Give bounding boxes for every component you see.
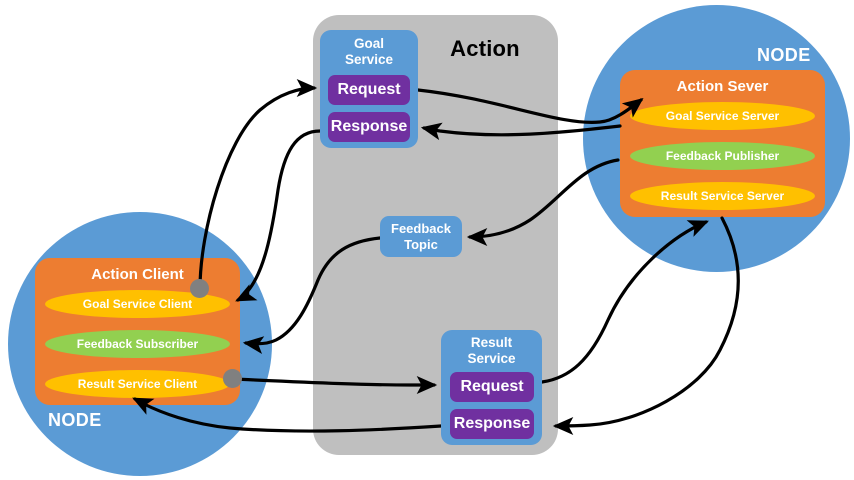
goal-service-box: Goal Service Request Response — [320, 30, 418, 148]
client-node-label: NODE — [48, 410, 102, 431]
action-client-box: Action Client Goal Service Client Feedba… — [35, 258, 240, 405]
result-service-response[interactable]: Response — [450, 409, 534, 439]
goal-service-title: Goal Service — [320, 36, 418, 68]
feedback-topic-title-line2: Topic — [404, 237, 438, 252]
goal-service-response[interactable]: Response — [328, 112, 410, 142]
diagram-canvas: Action NODE NODE Action Client Goal Serv… — [0, 0, 854, 480]
pill-result-service-client[interactable]: Result Service Client — [45, 370, 230, 398]
goal-service-request[interactable]: Request — [328, 75, 410, 105]
result-service-request[interactable]: Request — [450, 372, 534, 402]
pill-feedback-publisher[interactable]: Feedback Publisher — [630, 142, 815, 170]
action-panel-title: Action — [420, 36, 550, 62]
feedback-topic-box[interactable]: Feedback Topic — [380, 216, 462, 257]
result-service-box: Result Service Request Response — [441, 330, 542, 445]
result-service-title-line1: Result — [471, 335, 512, 350]
connector-dot-result-client — [223, 369, 242, 388]
result-service-title: Result Service — [441, 335, 542, 367]
action-client-title: Action Client — [35, 266, 240, 283]
goal-service-title-line1: Goal — [354, 36, 384, 51]
pill-feedback-subscriber[interactable]: Feedback Subscriber — [45, 330, 230, 358]
action-server-title: Action Sever — [620, 78, 825, 95]
action-server-box: Action Sever Goal Service Server Feedbac… — [620, 70, 825, 217]
feedback-topic-title-line1: Feedback — [391, 221, 451, 236]
pill-result-service-server[interactable]: Result Service Server — [630, 182, 815, 210]
connector-dot-goal-client — [190, 279, 209, 298]
goal-service-title-line2: Service — [345, 52, 393, 67]
result-service-title-line2: Service — [467, 351, 515, 366]
pill-goal-service-server[interactable]: Goal Service Server — [630, 102, 815, 130]
server-node-label: NODE — [757, 45, 811, 66]
feedback-topic-title: Feedback Topic — [380, 221, 462, 253]
